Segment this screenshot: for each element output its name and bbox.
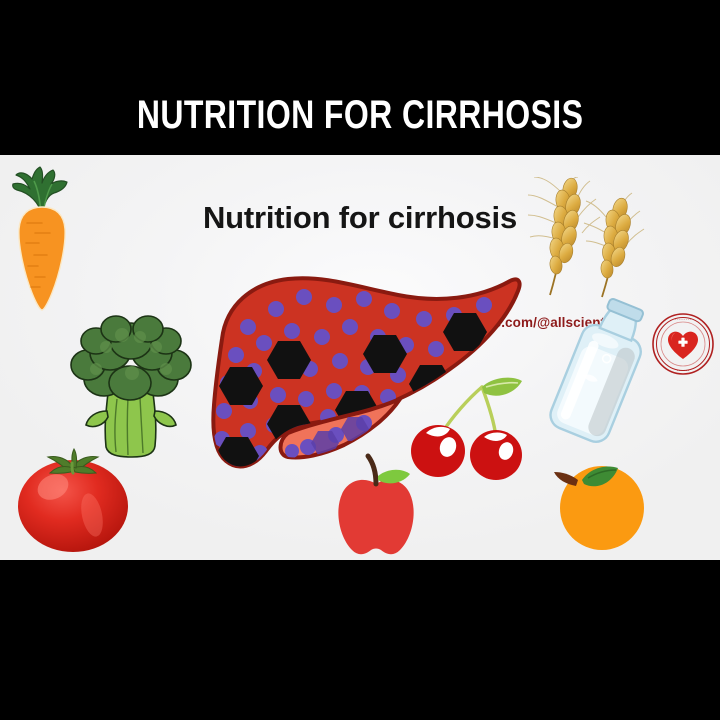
footer-bar <box>0 560 720 720</box>
title-banner: NUTRITION FOR CIRRHOSIS <box>0 0 720 155</box>
svg-text:· · · · · · · · ·: · · · · · · · · · <box>675 318 691 322</box>
cherries-illustration <box>408 375 526 485</box>
water-bottle-illustration <box>528 295 670 455</box>
banner-title: NUTRITION FOR CIRRHOSIS <box>137 95 584 155</box>
wheat-illustration <box>528 177 650 302</box>
carrot-illustration <box>2 163 82 313</box>
video-frame: NUTRITION FOR CIRRHOSIS youtube.com/@all… <box>0 0 720 720</box>
svg-text:· · · · · · ·: · · · · · · · <box>677 369 689 373</box>
slide-content: youtube.com/@allscientifical · · · · · ·… <box>0 155 720 560</box>
broccoli-illustration <box>60 307 202 459</box>
orange-illustration <box>542 450 654 552</box>
tomato-illustration <box>12 443 134 555</box>
